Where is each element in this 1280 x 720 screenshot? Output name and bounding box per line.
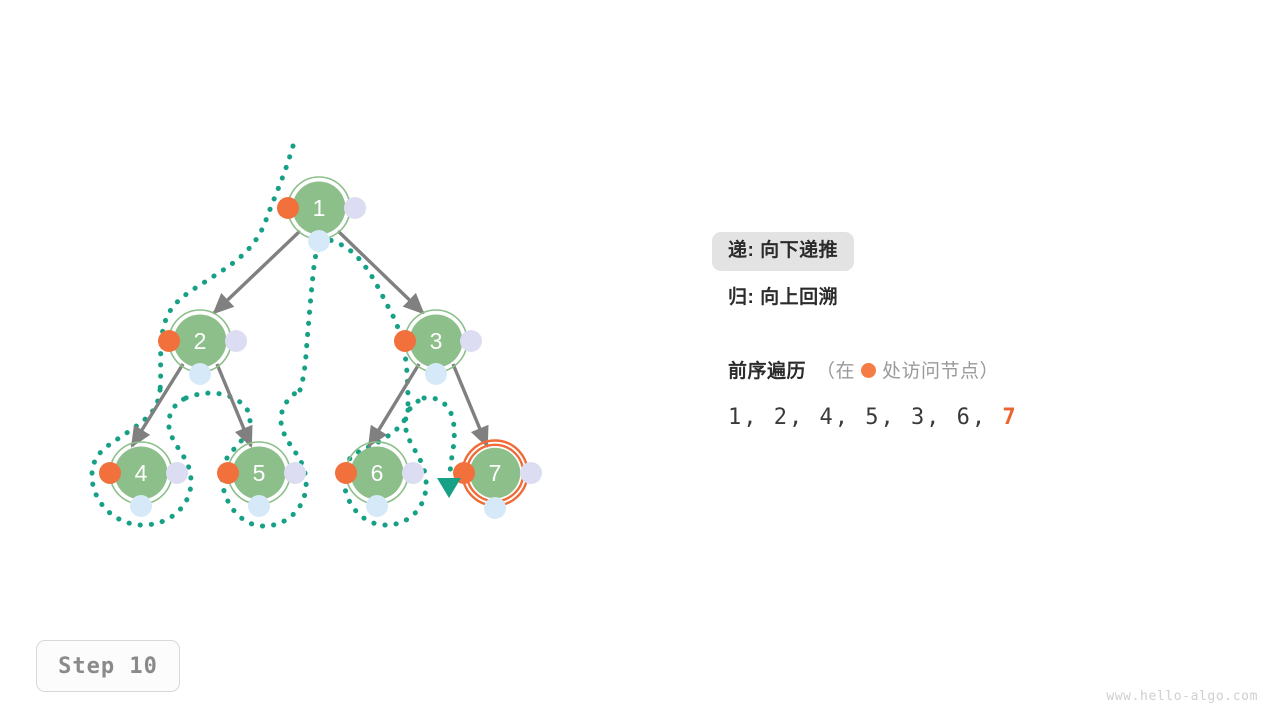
- legend-panel: 递: 向下递推 归: 向上回溯 前序遍历 （在 处访问节点） 1, 2, 4, …: [728, 232, 1208, 430]
- return-dot-icon: [484, 497, 506, 519]
- traversal-sequence-current: 7: [1002, 405, 1017, 430]
- tree-node-5[interactable]: 5: [217, 442, 306, 517]
- tree-node-4[interactable]: 4: [99, 442, 188, 517]
- return-dot-icon: [248, 495, 270, 517]
- tree-node-2[interactable]: 2: [158, 310, 247, 385]
- traversal-note-close: 处访问节点）: [882, 356, 999, 383]
- visit-dot-icon: [158, 330, 180, 352]
- current-position-pointer-icon: [437, 478, 461, 498]
- visit-dot-icon: [394, 330, 416, 352]
- visit-dot-legend-icon: [861, 363, 876, 378]
- tree-node-2-label: 2: [194, 328, 207, 354]
- tree-node-4-label: 4: [135, 460, 148, 486]
- legend-ascend-wrap: 归: 向上回溯: [712, 279, 854, 318]
- visit-dot-icon: [277, 197, 299, 219]
- legend-descend-label: 递:: [728, 240, 754, 261]
- return-dot-icon: [425, 363, 447, 385]
- traversal-name: 前序遍历: [728, 356, 806, 383]
- legend-row-descend: 递: 向下递推: [728, 232, 1208, 271]
- visit-dot-icon: [99, 462, 121, 484]
- legend-ascend-text: 向上回溯: [760, 287, 838, 308]
- edge-3-6: [369, 364, 419, 446]
- tree-node-5-label: 5: [253, 460, 266, 486]
- return-dot-icon: [366, 495, 388, 517]
- legend-descend-highlight: 递: 向下递推: [712, 232, 854, 271]
- tree-node-3[interactable]: 3: [394, 310, 482, 385]
- right-child-dot-icon: [402, 462, 424, 484]
- return-dot-icon: [130, 495, 152, 517]
- watermark: www.hello-algo.com: [1106, 689, 1258, 704]
- tree-node-7[interactable]: 7: [453, 441, 542, 520]
- right-child-dot-icon: [284, 462, 306, 484]
- tree-node-6[interactable]: 6: [335, 442, 424, 517]
- visit-dot-icon: [217, 462, 239, 484]
- traversal-title: 前序遍历 （在 处访问节点）: [728, 356, 1208, 383]
- right-child-dot-icon: [166, 462, 188, 484]
- right-child-dot-icon: [344, 197, 366, 219]
- return-dot-icon: [308, 230, 330, 252]
- right-child-dot-icon: [225, 330, 247, 352]
- edge-2-5: [217, 364, 251, 446]
- edge-3-7: [453, 364, 487, 446]
- edge-1-2: [214, 231, 300, 313]
- traversal-sequence: 1, 2, 4, 5, 3, 6, 7: [728, 405, 1208, 430]
- legend-descend-text: 向下递推: [760, 240, 838, 261]
- traversal-sequence-visited: 1, 2, 4, 5, 3, 6,: [728, 405, 1002, 430]
- right-child-dot-icon: [520, 462, 542, 484]
- traversal-note-open: （在: [816, 356, 855, 383]
- tree-node-6-label: 6: [371, 460, 384, 486]
- step-label: Step 10: [58, 654, 158, 679]
- return-dot-icon: [189, 363, 211, 385]
- legend-ascend-label: 归:: [728, 287, 754, 308]
- tree-node-1-label: 1: [313, 195, 326, 221]
- right-child-dot-icon: [460, 330, 482, 352]
- tree-node-7-label: 7: [489, 460, 502, 486]
- step-badge: Step 10: [36, 640, 180, 692]
- legend-row-ascend: 归: 向上回溯: [728, 271, 1208, 318]
- visit-dot-icon: [335, 462, 357, 484]
- edge-1-3: [338, 231, 423, 313]
- tree-node-3-label: 3: [430, 328, 443, 354]
